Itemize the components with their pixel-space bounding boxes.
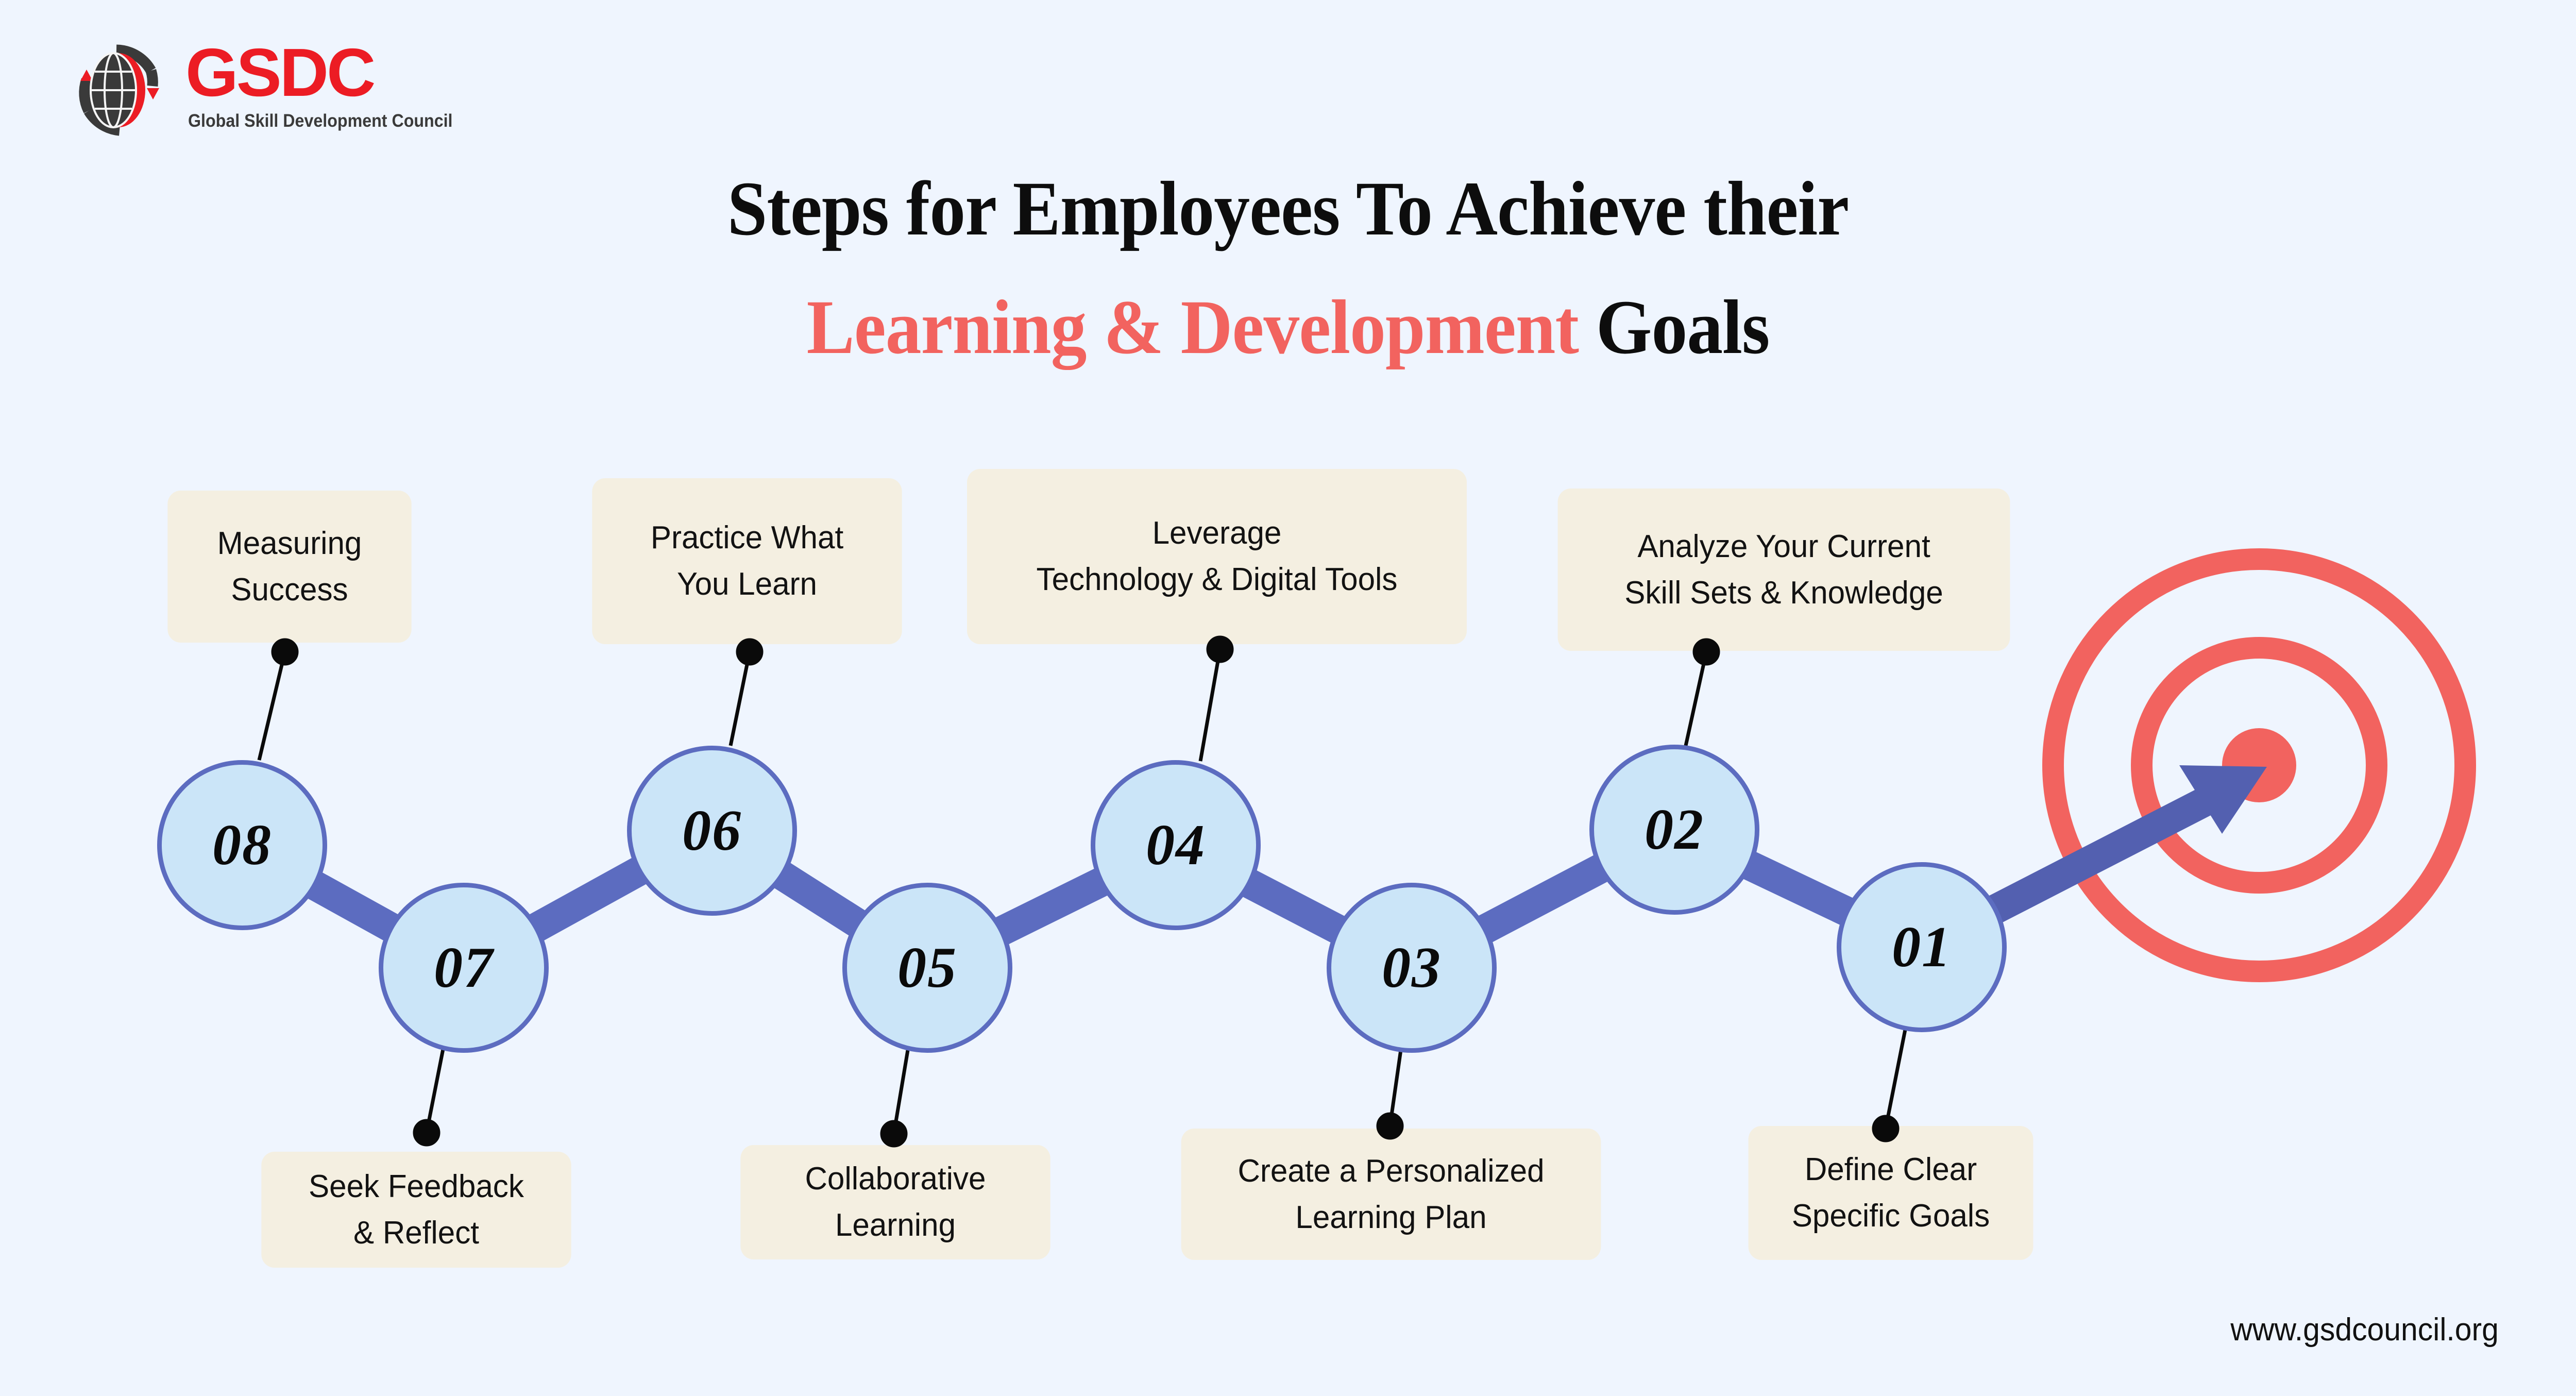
step-label-07-line1: Seek Feedback [309, 1164, 524, 1210]
step-label-02-line2: Skill Sets & Knowledge [1624, 570, 1943, 616]
step-label-03-line2: Learning Plan [1295, 1195, 1486, 1241]
step-label-08[interactable]: Measuring Success [167, 491, 411, 643]
page-title-line-2: Learning & Development Goals [90, 289, 2486, 366]
step-label-08-line1: Measuring [217, 520, 362, 567]
step-label-06[interactable]: Practice What You Learn [592, 478, 902, 644]
step-number-02: 02 [1645, 797, 1704, 863]
step-label-04[interactable]: Leverage Technology & Digital Tools [967, 469, 1467, 644]
step-label-01-line2: Specific Goals [1792, 1193, 1990, 1239]
step-number-01: 01 [1892, 914, 1952, 981]
step-label-01-line1: Define Clear [1805, 1147, 1977, 1193]
step-label-02-line1: Analyze Your Current [1637, 524, 1930, 570]
step-label-02[interactable]: Analyze Your Current Skill Sets & Knowle… [1558, 489, 2010, 651]
step-label-04-line1: Leverage [1153, 510, 1282, 557]
footer-website-url[interactable]: www.gsdcouncil.org [2230, 1311, 2499, 1348]
step-label-03-line1: Create a Personalized [1238, 1148, 1544, 1195]
step-label-05-line1: Collaborative [805, 1156, 986, 1202]
step-label-07-line2: & Reflect [353, 1210, 479, 1256]
page-title-line-1: Steps for Employees To Achieve their [90, 170, 2486, 247]
step-node-06[interactable]: 06 [627, 746, 797, 916]
step-label-07[interactable]: Seek Feedback & Reflect [261, 1152, 571, 1268]
step-number-06: 06 [682, 798, 742, 864]
step-label-06-line2: You Learn [677, 561, 817, 608]
step-label-05[interactable]: Collaborative Learning [740, 1145, 1050, 1259]
step-node-05[interactable]: 05 [842, 883, 1012, 1053]
step-number-03: 03 [1382, 935, 1442, 1001]
step-number-07: 07 [434, 935, 494, 1001]
step-number-05: 05 [897, 935, 957, 1001]
step-node-04[interactable]: 04 [1091, 760, 1261, 930]
step-number-04: 04 [1146, 812, 1206, 879]
step-node-02[interactable]: 02 [1589, 745, 1759, 915]
infographic-canvas: GSDC Global Skill Development Council St… [0, 0, 2576, 1396]
step-number-08: 08 [212, 812, 272, 879]
page-title-suffix: Goals [1579, 284, 1769, 370]
step-label-03[interactable]: Create a Personalized Learning Plan [1181, 1129, 1601, 1260]
logo-wordmark: GSDC [185, 39, 374, 107]
step-label-04-line2: Technology & Digital Tools [1037, 557, 1398, 603]
step-node-01[interactable]: 01 [1837, 862, 2007, 1032]
globe-icon [57, 39, 180, 142]
step-label-01[interactable]: Define Clear Specific Goals [1749, 1126, 2033, 1260]
step-node-08[interactable]: 08 [157, 760, 327, 930]
logo-tagline: Global Skill Development Council [188, 111, 453, 131]
step-label-06-line1: Practice What [651, 515, 843, 561]
step-label-08-line2: Success [231, 567, 348, 613]
step-node-03[interactable]: 03 [1327, 883, 1497, 1053]
gsdc-logo: GSDC Global Skill Development Council [57, 39, 428, 142]
step-node-07[interactable]: 07 [379, 883, 549, 1053]
step-label-05-line2: Learning [835, 1202, 956, 1249]
page-title-accent: Learning & Development [807, 284, 1579, 370]
